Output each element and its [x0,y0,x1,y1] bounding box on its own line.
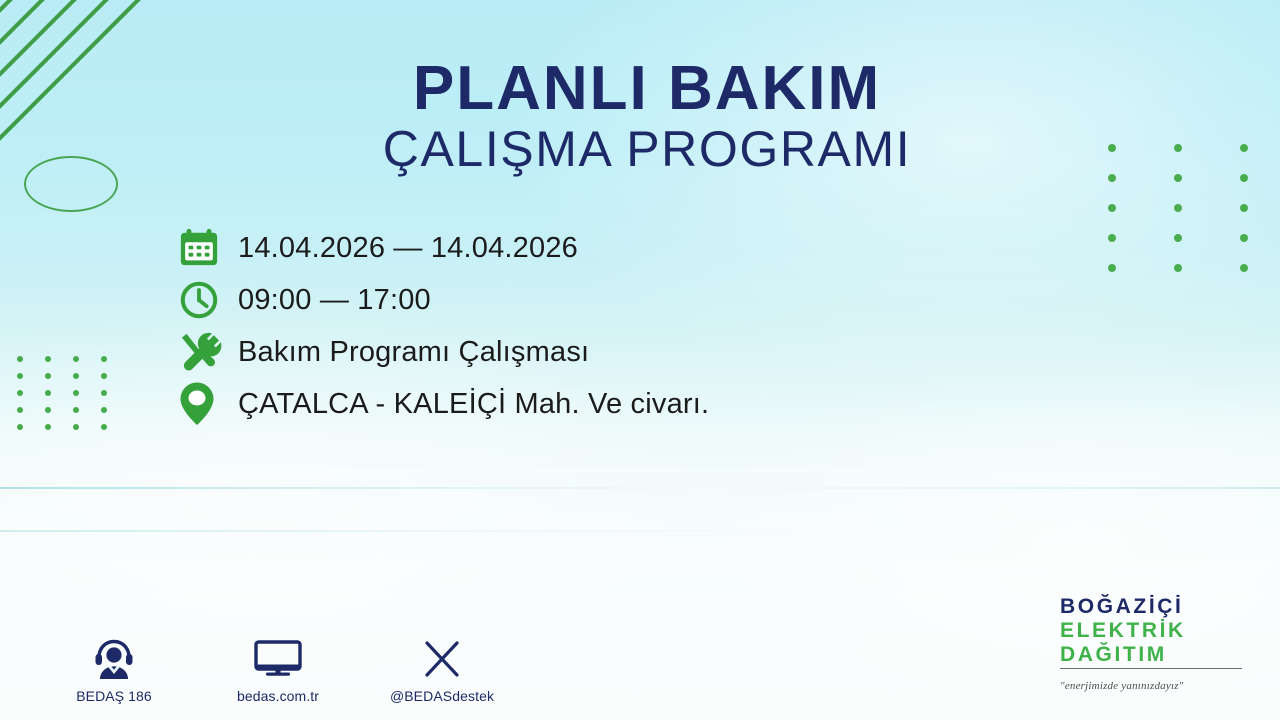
dot [101,373,107,379]
brand-tagline: "enerjimizde yanınızdayız" [1060,680,1256,693]
brand-divider [1060,668,1242,669]
info-row-date: 14.04.2026 — 14.04.2026 [178,222,1078,274]
contact-item-website[interactable]: bedas.com.tr [222,636,334,706]
dot [1108,234,1116,242]
contact-label-social: @BEDASdestek [390,688,494,704]
info-row-work-type: Bakım Programı Çalışması [178,326,1078,378]
dot [1108,264,1116,272]
date-range-text: 14.04.2026 — 14.04.2026 [238,231,578,265]
dot [1240,204,1248,212]
dot [1108,204,1116,212]
support-agent-icon [58,636,170,680]
brand-line-dagitim: DAĞITIM [1060,644,1256,665]
background-wave-line-1 [0,487,1280,489]
brand-logo: BOĞAZİÇİ ELEKTRİK DAĞITIM "enerjimizde y… [1060,596,1256,704]
dot [1240,264,1248,272]
tools-icon [178,331,238,373]
dot-grid-left-decoration [17,356,107,430]
dot [17,424,23,430]
dot [73,373,79,379]
dot [45,390,51,396]
clock-icon [178,279,238,321]
contact-item-call-center[interactable]: BEDAŞ 186 [58,636,170,706]
monitor-icon [222,636,334,680]
dot [45,373,51,379]
page-title: PLANLI BAKIM [0,58,1280,120]
maintenance-details-list: 14.04.2026 — 14.04.2026 09:00 — 17:00 [178,222,1078,430]
contact-label-call-center: BEDAŞ 186 [76,688,152,704]
dot [1174,234,1182,242]
footer-contacts: BEDAŞ 186 bedas.com.tr [58,636,498,706]
dot [45,356,51,362]
info-row-location: ÇATALCA - KALEİÇİ Mah. Ve civarı. [178,378,1078,430]
brand-line-bogazici: BOĞAZİÇİ [1060,596,1256,617]
dot [73,390,79,396]
dot [101,407,107,413]
page-subtitle: ÇALIŞMA PROGRAMI [0,120,1280,178]
dot [45,407,51,413]
dot [1174,264,1182,272]
dot [17,390,23,396]
dot [17,407,23,413]
work-type-text: Bakım Programı Çalışması [238,335,589,369]
dot [1240,234,1248,242]
dot [17,373,23,379]
dot [73,424,79,430]
calendar-icon [178,227,238,269]
dot [101,356,107,362]
brand-line-elektrik: ELEKTRİK [1060,620,1256,641]
dot [101,390,107,396]
dot [101,424,107,430]
page-title-block: PLANLI BAKIM ÇALIŞMA PROGRAMI [0,58,1280,178]
dot [73,356,79,362]
poster-canvas: PLANLI BAKIM ÇALIŞMA PROGRAMI [0,0,1280,720]
info-row-time: 09:00 — 17:00 [178,274,1078,326]
dot [73,407,79,413]
contact-label-website: bedas.com.tr [237,688,319,704]
contact-item-social[interactable]: @BEDASdestek [386,636,498,706]
dot [17,356,23,362]
location-text: ÇATALCA - KALEİÇİ Mah. Ve civarı. [238,387,709,421]
dot [45,424,51,430]
time-range-text: 09:00 — 17:00 [238,283,431,317]
background-wave-line-2 [0,530,1280,532]
dot [1174,204,1182,212]
x-twitter-icon [386,636,498,680]
background-wave-highlight [0,470,1280,471]
location-pin-icon [178,381,238,427]
